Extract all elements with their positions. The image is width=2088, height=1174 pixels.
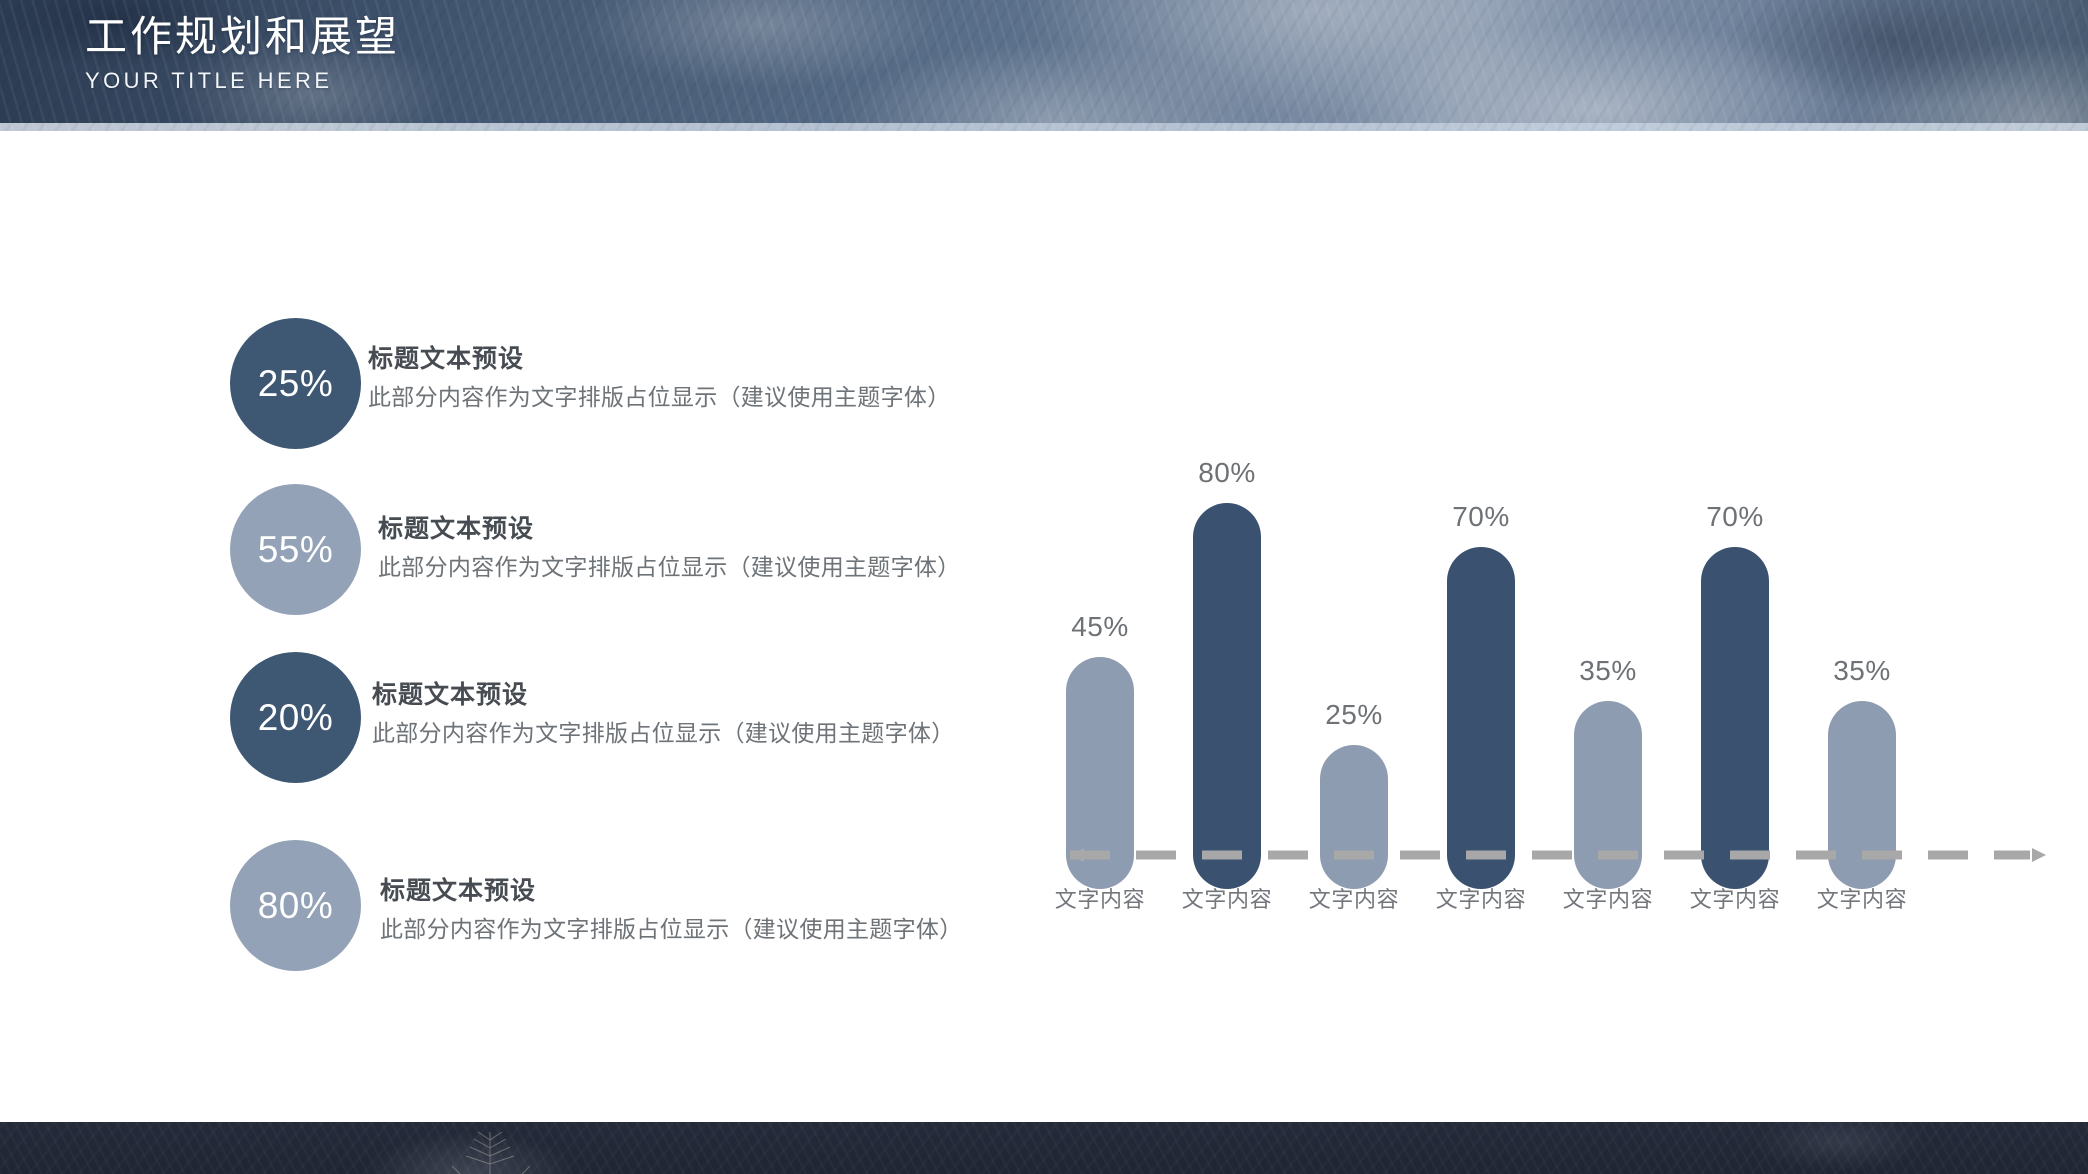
stat-text-group: 标题文本预设 此部分内容作为文字排版占位显示（建议使用主题字体） xyxy=(368,342,951,414)
stat-percent: 20% xyxy=(258,697,334,739)
stat-percent: 55% xyxy=(258,529,334,571)
stat-description: 此部分内容作为文字排版占位显示（建议使用主题字体） xyxy=(368,380,951,414)
bar-value-label: 25% xyxy=(1294,699,1414,731)
stat-list: 25% 标题文本预设 此部分内容作为文字排版占位显示（建议使用主题字体） 55%… xyxy=(230,300,1050,972)
bar-value-label: 80% xyxy=(1167,457,1287,489)
stat-circle-badge: 25% xyxy=(230,318,361,449)
bar-value-label: 70% xyxy=(1421,501,1541,533)
list-item[interactable]: 80% 标题文本预设 此部分内容作为文字排版占位显示（建议使用主题字体） xyxy=(230,804,1050,972)
bar-shape[interactable] xyxy=(1447,547,1515,889)
bar-category-label: 文字内容 xyxy=(1675,882,1795,914)
list-item[interactable]: 25% 标题文本预设 此部分内容作为文字排版占位显示（建议使用主题字体） xyxy=(230,300,1050,468)
bar-category-label: 文字内容 xyxy=(1802,882,1922,914)
bar-category-label: 文字内容 xyxy=(1421,882,1541,914)
stat-circle-badge: 20% xyxy=(230,652,361,783)
page-subtitle: YOUR TITLE HERE xyxy=(85,66,400,96)
bar-value-label: 45% xyxy=(1040,611,1160,643)
bar-category-label: 文字内容 xyxy=(1040,882,1160,914)
slide-canvas: 工作规划和展望 YOUR TITLE HERE 25% 标题文本预设 此部分内容… xyxy=(0,0,2088,1174)
stat-text-group: 标题文本预设 此部分内容作为文字排版占位显示（建议使用主题字体） xyxy=(380,874,963,946)
bar-chart: 45%文字内容80%文字内容25%文字内容70%文字内容35%文字内容70%文字… xyxy=(1040,330,2060,930)
stat-text-group: 标题文本预设 此部分内容作为文字排版占位显示（建议使用主题字体） xyxy=(378,512,961,584)
branch-decoration-icon xyxy=(430,1126,550,1174)
bar-group[interactable]: 45%文字内容 xyxy=(1040,330,1160,930)
stat-title: 标题文本预设 xyxy=(380,874,963,908)
footer-band xyxy=(0,1122,2088,1174)
bar-shape[interactable] xyxy=(1193,503,1261,889)
stat-title: 标题文本预设 xyxy=(368,342,951,376)
bar-group[interactable]: 70%文字内容 xyxy=(1675,330,1795,930)
chart-axis-dashed-arrow xyxy=(1050,848,2050,862)
stat-percent: 80% xyxy=(258,885,334,927)
header-divider xyxy=(0,123,2088,131)
header-text-group: 工作规划和展望 YOUR TITLE HERE xyxy=(85,11,400,96)
bar-value-label: 35% xyxy=(1548,655,1668,687)
header-band: 工作规划和展望 YOUR TITLE HERE xyxy=(0,0,2088,131)
bar-group[interactable]: 35%文字内容 xyxy=(1802,330,1922,930)
bar-series-container: 45%文字内容80%文字内容25%文字内容70%文字内容35%文字内容70%文字… xyxy=(1040,330,2060,930)
stat-circle-badge: 80% xyxy=(230,840,361,971)
bar-category-label: 文字内容 xyxy=(1167,882,1287,914)
stat-title: 标题文本预设 xyxy=(372,678,955,712)
list-item[interactable]: 20% 标题文本预设 此部分内容作为文字排版占位显示（建议使用主题字体） xyxy=(230,636,1050,804)
bar-shape[interactable] xyxy=(1701,547,1769,889)
bar-shape[interactable] xyxy=(1320,745,1388,889)
bar-value-label: 70% xyxy=(1675,501,1795,533)
bar-category-label: 文字内容 xyxy=(1294,882,1414,914)
bar-value-label: 35% xyxy=(1802,655,1922,687)
stat-description: 此部分内容作为文字排版占位显示（建议使用主题字体） xyxy=(380,912,963,946)
bar-group[interactable]: 35%文字内容 xyxy=(1548,330,1668,930)
bar-group[interactable]: 25%文字内容 xyxy=(1294,330,1414,930)
bar-category-label: 文字内容 xyxy=(1548,882,1668,914)
stat-description: 此部分内容作为文字排版占位显示（建议使用主题字体） xyxy=(372,716,955,750)
bar-group[interactable]: 70%文字内容 xyxy=(1421,330,1541,930)
stat-percent: 25% xyxy=(258,363,334,405)
bar-group[interactable]: 80%文字内容 xyxy=(1167,330,1287,930)
stat-circle-badge: 55% xyxy=(230,484,361,615)
page-title: 工作规划和展望 xyxy=(85,11,400,63)
list-item[interactable]: 55% 标题文本预设 此部分内容作为文字排版占位显示（建议使用主题字体） xyxy=(230,468,1050,636)
stat-text-group: 标题文本预设 此部分内容作为文字排版占位显示（建议使用主题字体） xyxy=(372,678,955,750)
stat-title: 标题文本预设 xyxy=(378,512,961,546)
stat-description: 此部分内容作为文字排版占位显示（建议使用主题字体） xyxy=(378,550,961,584)
